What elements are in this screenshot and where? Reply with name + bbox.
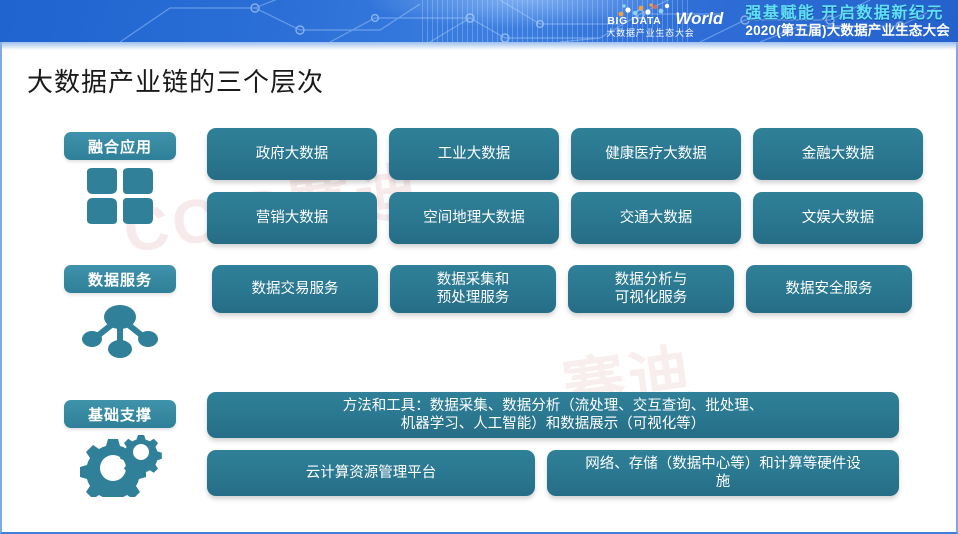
box-data-security-service[interactable]: 数据安全服务 [746, 265, 912, 313]
page-title: 大数据产业链的三个层次 [27, 62, 324, 99]
box-marketing-bigdata[interactable]: 营销大数据 [207, 192, 377, 244]
slogan-secondary: 2020(第五届)大数据产业生态大会 [745, 23, 950, 39]
layer-1-row-2: 营销大数据 空间地理大数据 交通大数据 文娱大数据 [207, 192, 958, 244]
event-slogan-block: 强基赋能 开启数据新纪元 2020(第五届)大数据产业生态大会 [737, 4, 950, 39]
logo-world-text: World [675, 10, 723, 27]
four-squares-icon [70, 166, 170, 228]
box-data-analysis-visualization-service[interactable]: 数据分析与 可视化服务 [568, 265, 734, 313]
layer-2-boxes: 数据交易服务 数据采集和 预处理服务 数据分析与 可视化服务 数据安全服务 [212, 265, 958, 313]
event-logo-block: BIG DATA World 大数据产业生态大会 强基赋能 开启数据新纪元 20… [603, 2, 950, 40]
box-data-trading-service[interactable]: 数据交易服务 [212, 265, 378, 313]
logo-subtitle-text: 大数据产业生态大会 [606, 28, 694, 38]
layer-infrastructure-support: 基础支撑 方法和工具：数据采集、数据分析（流处理、交互查询、批处理、 机器学习、… [2, 392, 958, 512]
box-government-bigdata[interactable]: 政府大数据 [207, 128, 377, 180]
event-header-banner: BIG DATA World 大数据产业生态大会 强基赋能 开启数据新纪元 20… [0, 0, 958, 42]
layer-1-row-1: 政府大数据 工业大数据 健康医疗大数据 金融大数据 [207, 128, 958, 180]
slide-canvas: BIG DATA World 大数据产业生态大会 强基赋能 开启数据新纪元 20… [0, 0, 958, 534]
layer-3-boxes: 方法和工具：数据采集、数据分析（流处理、交互查询、批处理、 机器学习、人工智能）… [207, 392, 958, 496]
header-bottom-fade [0, 42, 958, 50]
bigdata-world-logo: BIG DATA World 大数据产业生态大会 [603, 2, 731, 40]
layer-3-row-1: 方法和工具：数据采集、数据分析（流处理、交互查询、批处理、 机器学习、人工智能）… [207, 392, 958, 438]
box-methods-and-tools[interactable]: 方法和工具：数据采集、数据分析（流处理、交互查询、批处理、 机器学习、人工智能）… [207, 392, 899, 438]
layer-1-boxes: 政府大数据 工业大数据 健康医疗大数据 金融大数据 营销大数据 空间地理大数据 … [207, 128, 958, 244]
box-health-medical-bigdata[interactable]: 健康医疗大数据 [571, 128, 741, 180]
layer-data-services: 数据服务 数据交易服务 数据采集和 预处理服务 数据分 [2, 265, 958, 375]
box-geospatial-bigdata[interactable]: 空间地理大数据 [389, 192, 559, 244]
layer-label-data-services: 数据服务 [64, 265, 176, 293]
box-network-storage-compute-hardware[interactable]: 网络、存储（数据中心等）和计算等硬件设 施 [547, 450, 899, 496]
gears-icon [70, 434, 170, 496]
box-transport-bigdata[interactable]: 交通大数据 [571, 192, 741, 244]
box-industrial-bigdata[interactable]: 工业大数据 [389, 128, 559, 180]
logo-bigdata-text: BIG DATA [607, 16, 661, 27]
layer-3-row-2: 云计算资源管理平台 网络、存储（数据中心等）和计算等硬件设 施 [207, 450, 958, 496]
layer-2-row-1: 数据交易服务 数据采集和 预处理服务 数据分析与 可视化服务 数据安全服务 [212, 265, 958, 313]
slogan-primary: 强基赋能 开启数据新纪元 [745, 4, 950, 23]
network-nodes-icon [70, 299, 170, 361]
layer-integrated-applications: 融合应用 政府大数据 工业大数据 健康医疗大数据 金融大数据 营销大数据 空间地 [2, 128, 958, 246]
box-financial-bigdata[interactable]: 金融大数据 [753, 128, 923, 180]
box-cloud-resource-management-platform[interactable]: 云计算资源管理平台 [207, 450, 535, 496]
box-data-collection-preprocessing-service[interactable]: 数据采集和 预处理服务 [390, 265, 556, 313]
layer-label-infrastructure-support: 基础支撑 [64, 400, 176, 428]
layer-label-integrated-applications: 融合应用 [64, 132, 176, 160]
box-entertainment-bigdata[interactable]: 文娱大数据 [753, 192, 923, 244]
